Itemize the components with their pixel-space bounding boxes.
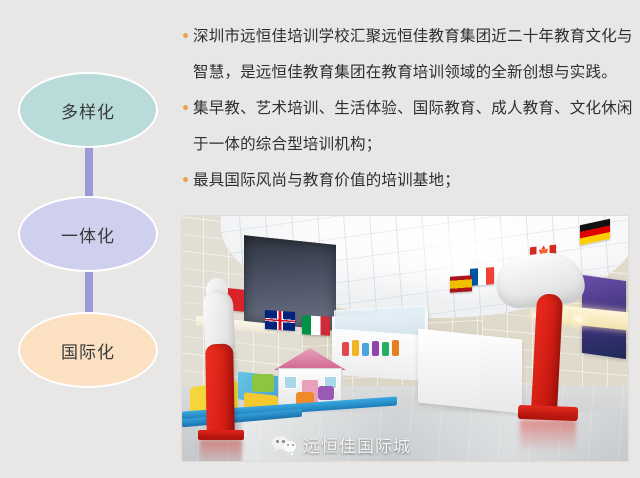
bullet-item: 最具国际风尚与教育价值的培训基地； [182, 162, 634, 198]
wechat-account-name: 远恒佳国际城 [303, 432, 411, 457]
bullet-text: 集早教、艺术培训、生活体验、国际教育、成人教育、文化休闲于一体的综合型培训机构； [193, 99, 633, 153]
diagram-node-label: 一体化 [61, 222, 115, 247]
bullet-dot-icon [183, 177, 188, 182]
flag-italy-icon [302, 315, 330, 335]
slide-canvas: 多样化 一体化 国际化 深圳市远恒佳培训学校汇聚远恒佳教育集团近二十年教育文化与… [0, 0, 640, 478]
product-item [372, 341, 379, 356]
diagram-node-label: 国际化 [61, 338, 115, 363]
bullet-dot-icon [183, 33, 188, 38]
product-item [342, 342, 349, 356]
mannequin-left-reflection [200, 440, 242, 461]
mannequin-right-reflection [520, 420, 576, 452]
wechat-watermark: 远恒佳国际城 [272, 432, 411, 457]
service-counter [418, 329, 522, 414]
product-item [392, 340, 399, 356]
flag-uk-icon [265, 310, 295, 331]
toy-block [318, 386, 334, 400]
mannequin-right-base [518, 405, 578, 421]
ceiling-lamp-icon [574, 316, 583, 322]
diagram-node-diversification: 多样化 [18, 72, 158, 148]
bullet-item: 集早教、艺术培训、生活体验、国际教育、成人教育、文化休闲于一体的综合型培训机构； [182, 90, 634, 162]
toy-block [252, 374, 274, 392]
interior-photo [182, 216, 628, 461]
product-item [382, 342, 389, 356]
mannequin-left-base [198, 430, 244, 440]
mannequin-left-legs [205, 344, 235, 436]
diagram-node-internationalization: 国际化 [18, 312, 158, 388]
bullet-text: 最具国际风尚与教育价值的培训基地； [193, 171, 460, 189]
flag-france-icon [470, 267, 494, 286]
bullet-dot-icon [183, 105, 188, 110]
diagram-node-integration: 一体化 [18, 196, 158, 272]
flag-spain-icon [450, 275, 472, 293]
wechat-icon [272, 436, 296, 453]
bullet-list: 深圳市远恒佳培训学校汇聚远恒佳教育集团近二十年教育文化与智慧，是远恒佳教育集团在… [182, 18, 634, 198]
bullet-item: 深圳市远恒佳培训学校汇聚远恒佳教育集团近二十年教育文化与智慧，是远恒佳教育集团在… [182, 18, 634, 90]
bullet-text: 深圳市远恒佳培训学校汇聚远恒佳教育集团近二十年教育文化与智慧，是远恒佳教育集团在… [193, 27, 633, 81]
concept-diagram: 多样化 一体化 国际化 [0, 58, 178, 388]
content-area: 深圳市远恒佳培训学校汇聚远恒佳教育集团近二十年教育文化与智慧，是远恒佳教育集团在… [182, 0, 640, 478]
diagram-connector-1 [85, 142, 93, 200]
product-item [352, 340, 359, 356]
diagram-node-label: 多样化 [61, 98, 115, 123]
playhouse-window [284, 376, 297, 389]
product-item [362, 343, 369, 356]
